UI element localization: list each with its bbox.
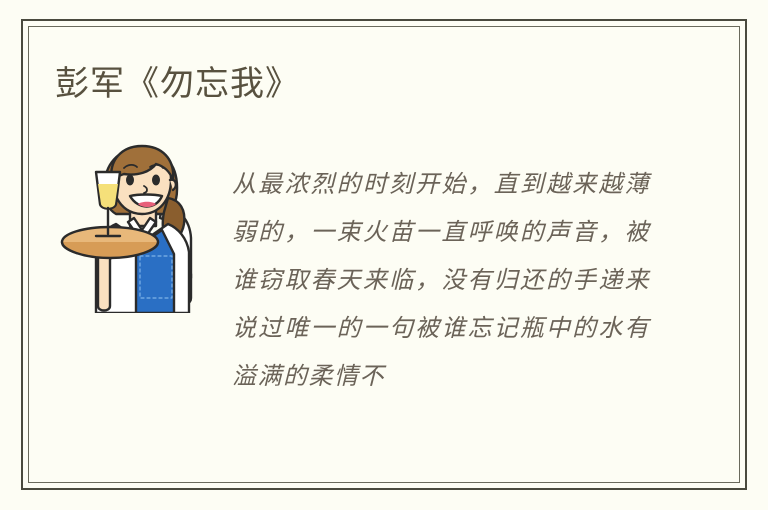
- poster-page: 彭军《勿忘我》: [0, 0, 768, 510]
- article-body: 从最浓烈的时刻开始，直到越来越薄弱的，一束火苗一直呼唤的声音，被谁窃取春天来临，…: [232, 160, 650, 400]
- left-eye: [126, 175, 134, 186]
- right-eye: [152, 175, 160, 186]
- page-title: 彭军《勿忘我》: [55, 62, 300, 106]
- apron-pocket-stitch: [140, 256, 172, 298]
- waitress-with-tray-illustration: [58, 138, 203, 313]
